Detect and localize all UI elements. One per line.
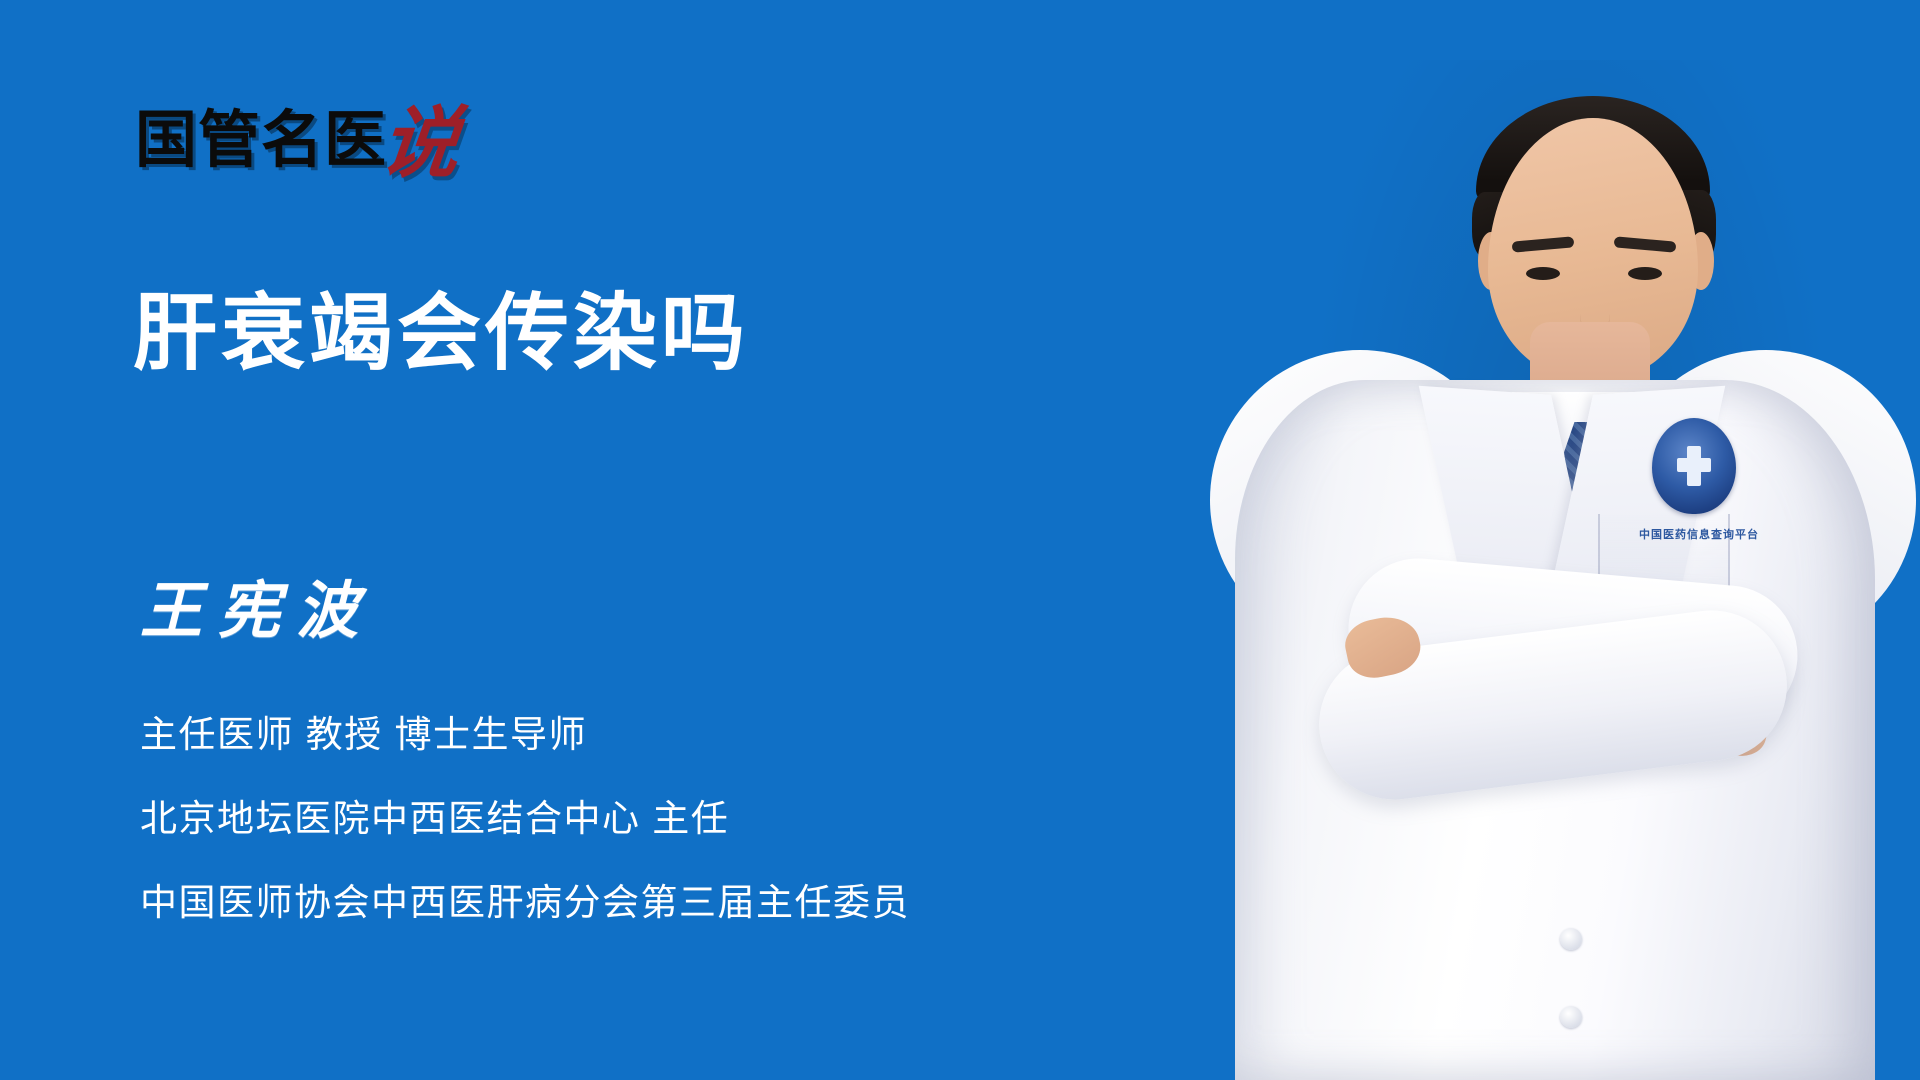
hospital-badge-icon xyxy=(1652,418,1736,514)
doctor-credentials: 主任医师 教授 博士生导师 北京地坛医院中西医结合中心 主任 中国医师协会中西医… xyxy=(140,716,910,921)
slide-canvas: 国管名医 说 肝衰竭会传染吗 王宪波 主任医师 教授 博士生导师 北京地坛医院中… xyxy=(0,0,1920,1080)
program-logo-main-text: 国管名医 xyxy=(135,110,387,172)
program-logo-accent-text: 说 xyxy=(377,108,463,180)
medical-cross-icon xyxy=(1673,442,1715,490)
credential-line: 中国医师协会中西医肝病分会第三届主任委员 xyxy=(140,884,910,921)
coat-button xyxy=(1560,1006,1582,1028)
coat-button xyxy=(1560,928,1582,950)
doctor-name: 王宪波 xyxy=(140,578,374,646)
eye-right xyxy=(1628,267,1662,280)
badge-caption: 中国医药信息查询平台 xyxy=(1618,526,1780,542)
credential-line: 主任医师 教授 博士生导师 xyxy=(140,716,910,753)
eye-left xyxy=(1526,267,1560,280)
credential-line: 北京地坛医院中西医结合中心 主任 xyxy=(140,800,910,837)
page-title: 肝衰竭会传染吗 xyxy=(133,284,749,383)
doctor-portrait: 中国医药信息查询平台 xyxy=(1200,0,1920,1080)
program-logo: 国管名医 说 xyxy=(135,96,459,172)
